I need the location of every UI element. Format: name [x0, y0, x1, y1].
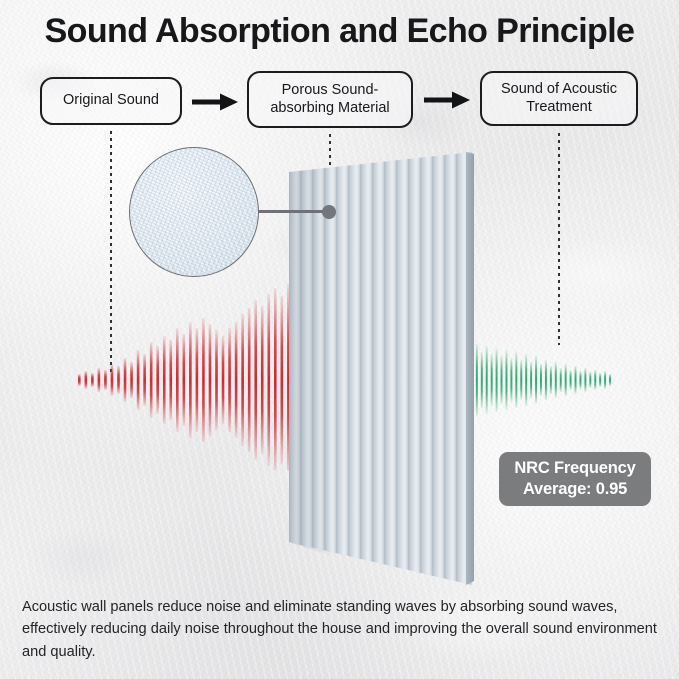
nrc-frequency-badge: NRC Frequency Average: 0.95	[499, 452, 651, 506]
magnifier-leader-line	[256, 210, 328, 213]
nrc-badge-line2: Average: 0.95	[523, 479, 627, 500]
flow-box-original-sound-label: Original Sound	[63, 92, 159, 110]
right-arrow-icon	[192, 92, 238, 112]
right-arrow-icon	[424, 90, 470, 110]
infographic-canvas: Sound Absorption and Echo Principle Orig…	[0, 0, 679, 679]
wave-series-1	[466, 344, 611, 416]
flow-box-acoustic-treatment-label: Sound of Acoustic Treatment	[488, 81, 630, 116]
magnifier-anchor-dot	[322, 205, 336, 219]
acoustic-panel-right-edge	[466, 145, 474, 590]
page-title: Sound Absorption and Echo Principle	[0, 12, 679, 51]
caption-text: Acoustic wall panels reduce noise and el…	[22, 596, 662, 663]
flow-box-porous-material-label: Porous Sound-absorbing Material	[255, 82, 405, 117]
flow-box-acoustic-treatment: Sound of Acoustic Treatment	[480, 71, 638, 126]
magnifier-circle-fiber-closeup	[129, 147, 259, 277]
flow-box-porous-material: Porous Sound-absorbing Material	[247, 71, 413, 128]
flow-box-original-sound: Original Sound	[40, 77, 182, 125]
nrc-badge-line1: NRC Frequency	[514, 458, 635, 479]
